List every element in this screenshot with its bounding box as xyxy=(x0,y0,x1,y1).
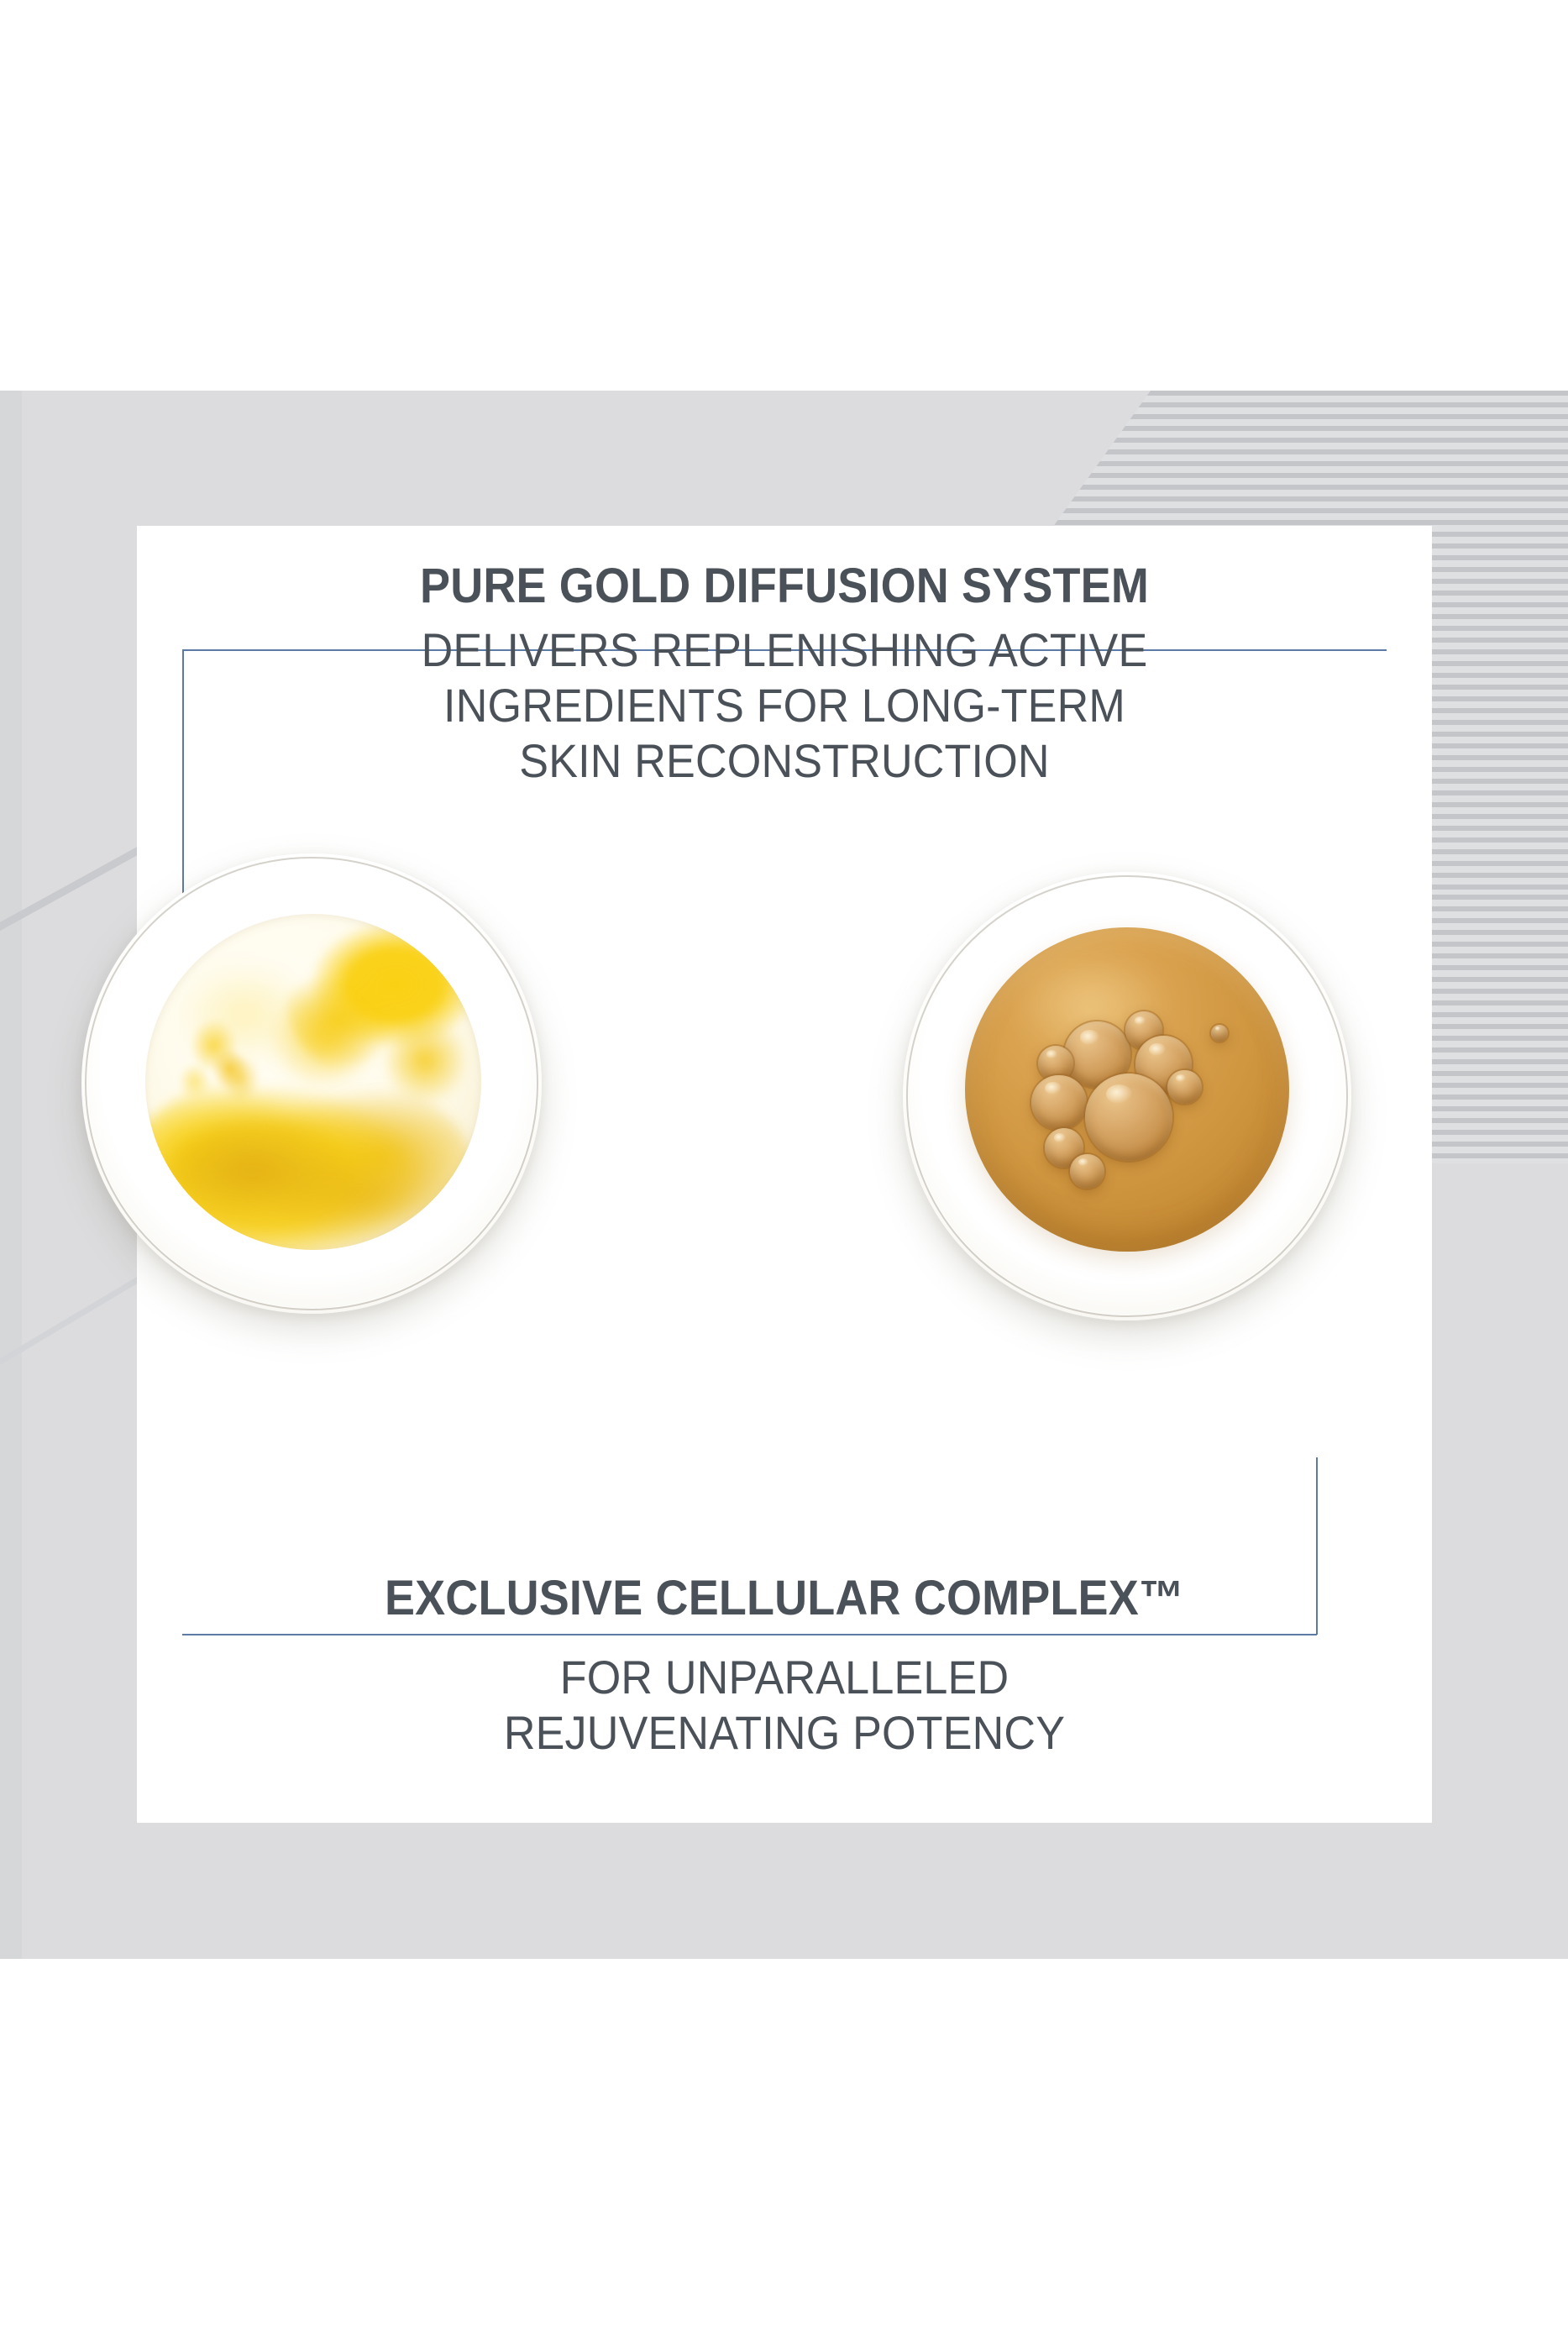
bottom-heading: EXCLUSIVE CELLULAR COMPLEX™ xyxy=(182,1572,1387,1625)
top-body-text: DELIVERS REPLENISHING ACTIVE INGREDIENTS… xyxy=(182,622,1387,789)
dish-rim-line-left xyxy=(85,857,538,1310)
petri-dish-amber-oil xyxy=(903,872,1351,1320)
petri-dish-yellow-diffusion xyxy=(81,853,542,1314)
dish-rim-line-right xyxy=(906,875,1348,1317)
left-gray-slab xyxy=(0,391,22,1959)
bottom-body-text: FOR UNPARALLELED REJUVENATING POTENCY xyxy=(182,1650,1387,1761)
content-card: PURE GOLD DIFFUSION SYSTEM DELIVERS REPL… xyxy=(137,526,1432,1823)
striped-decor-panel-right-gutter xyxy=(1432,895,1568,1163)
bottom-frame-horizontal-rule xyxy=(182,1634,1317,1635)
top-heading: PURE GOLD DIFFUSION SYSTEM xyxy=(182,559,1387,613)
